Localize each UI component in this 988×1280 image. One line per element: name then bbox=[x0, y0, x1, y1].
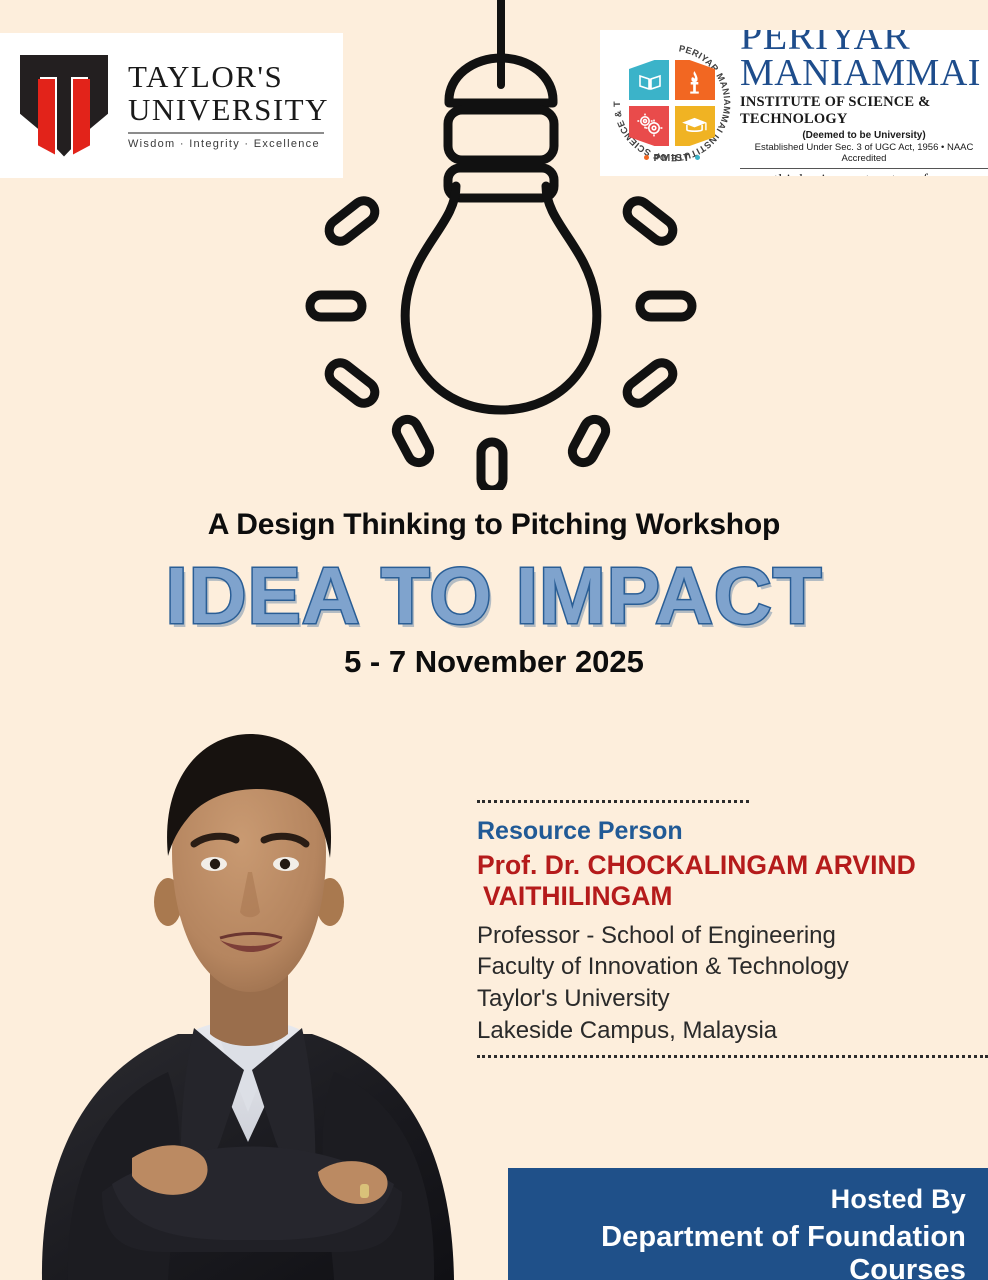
affiliation-line: Taylor's University bbox=[477, 983, 988, 1015]
resource-person-photo bbox=[0, 672, 522, 1280]
taylors-shield-icon bbox=[16, 55, 112, 157]
taylors-university-logo: TAYLOR'S UNIVERSITY Wisdom · Integrity ·… bbox=[0, 33, 343, 178]
dotted-divider-bottom bbox=[477, 1055, 988, 1058]
periyar-tagline: think • innovate • transform bbox=[740, 172, 988, 176]
resource-person-name-line1: Prof. Dr. CHOCKALINGAM ARVIND bbox=[477, 850, 916, 880]
resource-person-block: Resource Person Prof. Dr. CHOCKALINGAM A… bbox=[477, 800, 988, 1058]
hosting-department: Department of Foundation Courses bbox=[508, 1221, 966, 1280]
affiliation-line: Faculty of Innovation & Technology bbox=[477, 951, 988, 983]
resource-person-name: Prof. Dr. CHOCKALINGAM ARVIND VAITHILING… bbox=[477, 850, 988, 913]
divider bbox=[128, 132, 324, 134]
workshop-subtitle: A Design Thinking to Pitching Workshop bbox=[0, 508, 988, 542]
resource-person-affiliation: Professor - School of Engineering Facult… bbox=[477, 920, 988, 1047]
resource-person-label: Resource Person bbox=[477, 817, 988, 846]
dotted-divider-top bbox=[477, 800, 749, 803]
periyar-accreditation: Established Under Sec. 3 of UGC Act, 195… bbox=[740, 142, 988, 164]
event-poster: TAYLOR'S UNIVERSITY Wisdom · Integrity ·… bbox=[0, 0, 988, 1280]
affiliation-line: Professor - School of Engineering bbox=[477, 920, 988, 952]
resource-person-name-line2: VAITHILINGAM bbox=[477, 881, 988, 912]
divider bbox=[740, 168, 988, 169]
periyar-wordmark: PERIYAR MANIAMMAI INSTITUTE OF SCIENCE &… bbox=[740, 30, 988, 176]
hosted-by-heading: Hosted By bbox=[508, 1184, 966, 1215]
affiliation-line: Lakeside Campus, Malaysia bbox=[477, 1015, 988, 1047]
page-title: IDEA TO IMPACT bbox=[0, 550, 988, 642]
periyar-deemed: (Deemed to be University) bbox=[740, 130, 988, 141]
periyar-subtitle: INSTITUTE OF SCIENCE & TECHNOLOGY bbox=[740, 94, 988, 128]
hosted-by-banner: Hosted By Department of Foundation Cours… bbox=[508, 1168, 988, 1280]
hanging-lightbulb-icon bbox=[296, 0, 706, 490]
periyar-title2: MANIAMMAI bbox=[740, 55, 988, 91]
